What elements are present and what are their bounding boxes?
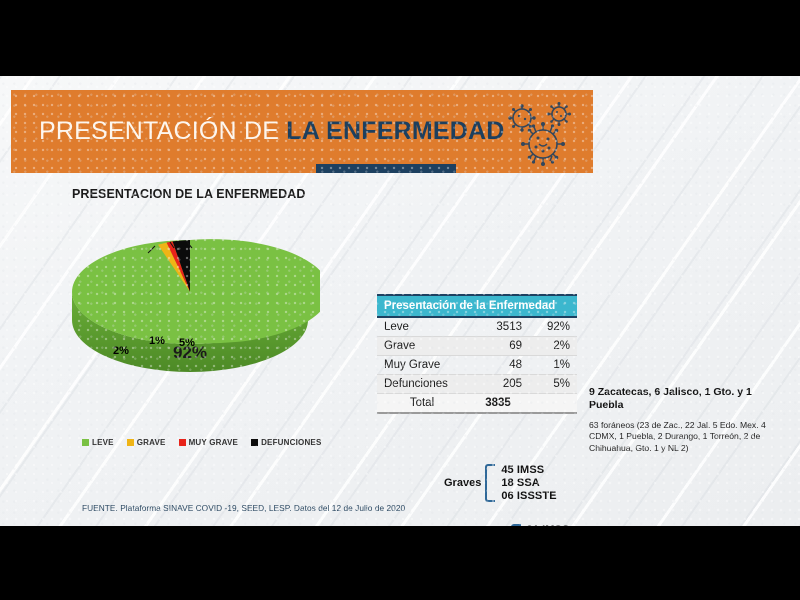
legend-swatch-defunciones <box>251 439 258 446</box>
slide-header-banner: PRESENTACIÓN DE LA ENFERMEDAD <box>11 90 593 173</box>
pie-label-grave: 2% <box>113 345 129 357</box>
row-count-muy-grave: 48 <box>467 356 529 375</box>
legend-label-grave: GRAVE <box>137 438 166 447</box>
row-label-defunciones: Defunciones <box>377 375 467 394</box>
legend-label-leve: LEVE <box>92 438 114 447</box>
source-footnote: FUENTE. Plataforma SINAVE COVID -19, SEE… <box>82 503 405 513</box>
foraneos-heading: 9 Zacatecas, 6 Jalisco, 1 Gto. y 1 Puebl… <box>589 386 789 412</box>
chart-title: PRESENTACION DE LA ENFERMEDAD <box>72 187 305 201</box>
muy-graves-item-imss: 31 IMSS <box>527 524 582 526</box>
legend-item-grave: GRAVE <box>127 438 166 447</box>
muy-graves-group-items: 31 IMSS 14 SSA 03 ISSSTE <box>521 524 582 526</box>
legend-item-muy-grave: MUY GRAVE <box>179 438 239 447</box>
graves-group-label: Graves <box>444 477 481 489</box>
legend-swatch-leve <box>82 439 89 446</box>
row-label-muy-grave: Muy Grave <box>377 356 467 375</box>
page-title: PRESENTACIÓN DE LA ENFERMEDAD <box>39 117 505 146</box>
legend-label-muy-grave: MUY GRAVE <box>189 438 239 447</box>
chart-legend: LEVE GRAVE MUY GRAVE DEFUNCIONES <box>82 438 322 447</box>
row-pct-grave: 2% <box>529 337 577 356</box>
row-label-grave: Grave <box>377 337 467 356</box>
table-header-cell: Presentación de la Enfermedad <box>377 295 577 317</box>
table-row: Muy Grave 48 1% <box>377 356 577 375</box>
total-pct-empty <box>529 394 577 414</box>
graves-group: Graves 45 IMSS 18 SSA 06 ISSSTE <box>444 464 557 502</box>
page-title-light: PRESENTACIÓN DE <box>39 117 286 145</box>
row-count-leve: 3513 <box>467 317 529 337</box>
legend-label-defunciones: DEFUNCIONES <box>261 438 321 447</box>
foraneos-detail: 63 foráneos (23 de Zac., 22 Jal. 5 Edo. … <box>589 420 794 454</box>
table-row: Grave 69 2% <box>377 337 577 356</box>
total-value: 3835 <box>467 394 529 414</box>
pie-label-leve: 92% <box>173 343 207 363</box>
coronavirus-icon <box>503 99 579 167</box>
presentation-table: Presentación de la Enfermedad Leve 3513 … <box>377 294 577 414</box>
table-total-row: Total 3835 <box>377 394 577 414</box>
row-label-leve: Leve <box>377 317 467 337</box>
legend-item-defunciones: DEFUNCIONES <box>251 438 321 447</box>
total-label: Total <box>377 394 467 414</box>
brace-icon <box>511 524 521 526</box>
legend-swatch-grave <box>127 439 134 446</box>
row-pct-muy-grave: 1% <box>529 356 577 375</box>
graves-item-issste: 06 ISSSTE <box>501 490 556 502</box>
graves-item-imss: 45 IMSS <box>501 464 556 476</box>
title-underline-accent <box>316 164 456 173</box>
screenshot-stage: PRESENTACIÓN DE LA ENFERMEDAD <box>0 0 800 600</box>
table-header-row: Presentación de la Enfermedad <box>377 295 577 317</box>
row-count-grave: 69 <box>467 337 529 356</box>
table-row: Defunciones 205 5% <box>377 375 577 394</box>
row-pct-defunciones: 5% <box>529 375 577 394</box>
graves-item-ssa: 18 SSA <box>501 477 556 489</box>
muy-graves-group: Muy graves 31 IMSS 14 SSA 03 ISSSTE <box>446 524 582 526</box>
presentation-slide: PRESENTACIÓN DE LA ENFERMEDAD <box>0 76 800 526</box>
graves-group-items: 45 IMSS 18 SSA 06 ISSSTE <box>495 464 556 502</box>
row-pct-leve: 92% <box>529 317 577 337</box>
pie-label-muy-grave: 1% <box>149 335 165 347</box>
brace-icon <box>485 464 495 502</box>
row-count-defunciones: 205 <box>467 375 529 394</box>
page-title-bold: LA ENFERMEDAD <box>286 117 504 145</box>
table-row: Leve 3513 92% <box>377 317 577 337</box>
legend-swatch-muy-grave <box>179 439 186 446</box>
legend-item-leve: LEVE <box>82 438 114 447</box>
